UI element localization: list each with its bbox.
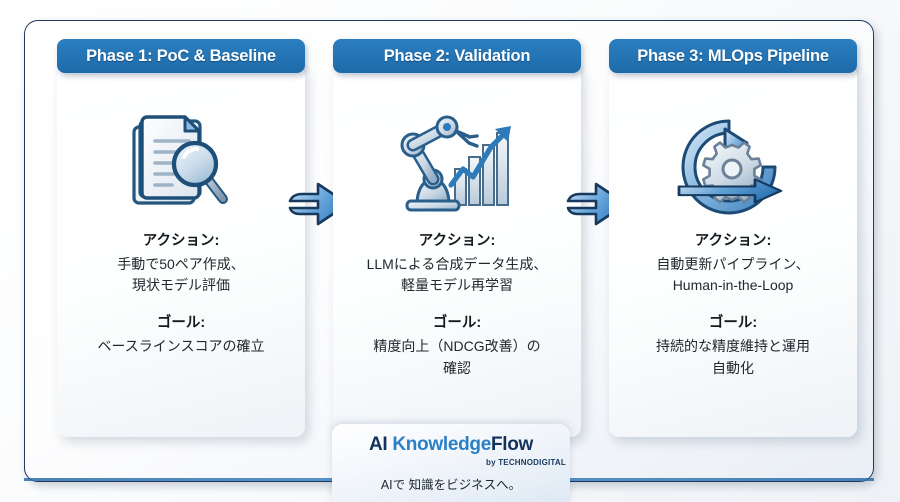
phase-1-header: Phase 1: PoC & Baseline — [57, 39, 305, 73]
logo-word-knowledge: Knowledge — [392, 434, 491, 455]
phase-3-header-label: Phase 3: MLOps Pipeline — [637, 47, 829, 66]
phase-2-goal-label: ゴール: — [341, 313, 573, 335]
phase-card-2[interactable]: Phase 2: Validation — [333, 65, 581, 437]
phase-2-header-label: Phase 2: Validation — [384, 47, 531, 66]
logo-word-ai: AI — [369, 434, 392, 455]
phase-card-3[interactable]: Phase 3: MLOps Pipeline — [609, 65, 857, 437]
diagram-canvas: Phase 1: PoC & Baseline — [0, 0, 900, 502]
phase-2-action-label: アクション: — [341, 231, 573, 253]
phase-3-action-value: 自動更新パイプライン、Human-in-the-Loop — [617, 254, 849, 297]
phase-card-1[interactable]: Phase 1: PoC & Baseline — [57, 65, 305, 437]
phase-1-header-label: Phase 1: PoC & Baseline — [86, 47, 276, 66]
phase-2-icon-slot — [333, 99, 581, 223]
phase-1-action: アクション: 手動で50ペア作成、現状モデル評価 — [65, 231, 297, 297]
phase-2-header: Phase 2: Validation — [333, 39, 581, 73]
cycle-gear-arrow-icon — [677, 107, 789, 215]
phase-2-action-value: LLMによる合成データ生成、軽量モデル再学習 — [341, 254, 573, 297]
phase-1-goal-value: ベースラインスコアの確立 — [65, 336, 297, 358]
phase-1-action-label: アクション: — [65, 231, 297, 253]
logo-word-flow: Flow — [491, 434, 533, 455]
phase-1-goal-label: ゴール: — [65, 313, 297, 335]
phase-3-goal: ゴール: 持続的な精度維持と運用自動化 — [617, 313, 849, 379]
phase-3-body: アクション: 自動更新パイプライン、Human-in-the-Loop ゴール:… — [617, 231, 849, 379]
logo-byline: by TECHNODIGITAL — [332, 458, 566, 467]
phase-2-body: アクション: LLMによる合成データ生成、軽量モデル再学習 ゴール: 精度向上（… — [341, 231, 573, 379]
phase-1-goal: ゴール: ベースラインスコアの確立 — [65, 313, 297, 357]
phase-3-goal-value: 持続的な精度維持と運用自動化 — [617, 336, 849, 379]
phase-3-header: Phase 3: MLOps Pipeline — [609, 39, 857, 73]
phase-1-action-value: 手動で50ペア作成、現状モデル評価 — [65, 254, 297, 297]
phase-2-goal-value: 精度向上（NDCG改善）の確認 — [341, 336, 573, 379]
documents-magnifier-icon — [126, 107, 236, 215]
phase-3-icon-slot — [609, 99, 857, 223]
phase-1-icon-slot — [57, 99, 305, 223]
phase-3-action: アクション: 自動更新パイプライン、Human-in-the-Loop — [617, 231, 849, 297]
logo-wordmark: AI KnowledgeFlow — [332, 435, 570, 454]
phase-3-action-label: アクション: — [617, 231, 849, 253]
diagram-frame: Phase 1: PoC & Baseline — [24, 20, 874, 482]
phase-2-goal: ゴール: 精度向上（NDCG改善）の確認 — [341, 313, 573, 379]
robot-arm-bar-chart-icon — [399, 107, 515, 215]
logo-tagline: AIで 知識をビジネスへ。 — [332, 474, 570, 493]
phase-3-goal-label: ゴール: — [617, 313, 849, 335]
logo-plate: AI KnowledgeFlow by TECHNODIGITAL AIで 知識… — [332, 424, 570, 502]
phase-1-body: アクション: 手動で50ペア作成、現状モデル評価 ゴール: ベースラインスコアの… — [65, 231, 297, 358]
phase-2-action: アクション: LLMによる合成データ生成、軽量モデル再学習 — [341, 231, 573, 297]
